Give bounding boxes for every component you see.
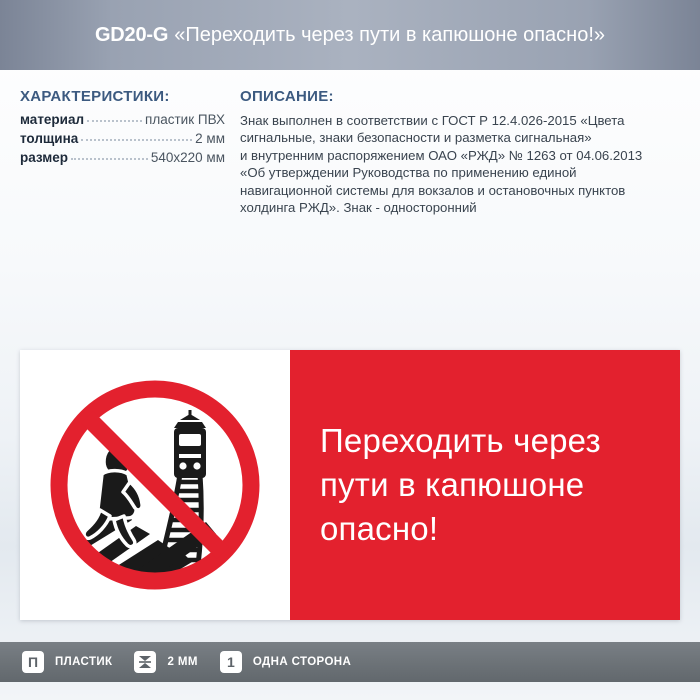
sign-preview: Переходить через пути в капюшоне опасно! [20,350,680,620]
description-line: и внутренним распоряжением ОАО «РЖД» № 1… [240,147,685,164]
thickness-icon-glyph [137,654,153,670]
sign-text-panel: Переходить через пути в капюшоне опасно! [290,350,680,620]
spec-row-material: материал пластик ПВХ [20,112,225,127]
footer-item-material: П ПЛАСТИК [22,651,112,673]
spec-value: 540х220 мм [151,150,225,165]
thickness-icon [134,651,156,673]
specs-heading: ХАРАКТЕРИСТИКИ: [20,88,225,105]
spec-dot-leader [87,120,142,122]
description-line: холдинга РЖД». Знак - односторонний [240,199,685,216]
description-block: ОПИСАНИЕ: Знак выполнен в соответствии с… [240,88,685,216]
description-line: Знак выполнен в соответствии с ГОСТ Р 12… [240,112,685,129]
description-body: Знак выполнен в соответствии с ГОСТ Р 12… [240,112,685,216]
spec-dot-leader [71,158,148,160]
sign-pictogram-panel [20,350,290,620]
sign-text-line: Переходить через [320,419,680,463]
header-inner: GD20-G «Переходить через пути в капюшоне… [95,24,605,47]
one-side-icon: 1 [220,651,242,673]
description-heading: ОПИСАНИЕ: [240,88,685,105]
spec-value: 2 мм [195,131,225,146]
sign-text-line: пути в капюшоне [320,463,680,507]
product-card: GD20-G «Переходить через пути в капюшоне… [0,0,700,700]
footer-label: ПЛАСТИК [55,656,112,668]
footer-item-sides: 1 ОДНА СТОРОНА [220,651,351,673]
footer-label: ОДНА СТОРОНА [253,656,351,668]
sign-text-line: опасно! [320,507,680,551]
specs-block: ХАРАКТЕРИСТИКИ: материал пластик ПВХ тол… [20,88,225,169]
spec-label: размер [20,150,68,165]
description-line: «Об утверждении Руководства по применени… [240,164,685,181]
spec-row-thickness: толщина 2 мм [20,131,225,146]
plastic-icon-glyph: П [28,655,38,669]
spec-dot-leader [81,139,192,141]
one-side-icon-glyph: 1 [227,655,235,669]
spec-label: материал [20,112,84,127]
footer-bar: П ПЛАСТИК 2 ММ 1 ОДНА СТОРОНА [0,642,700,682]
no-crossing-tracks-in-hood-pictogram [40,370,270,600]
info-section: ХАРАКТЕРИСТИКИ: материал пластик ПВХ тол… [0,70,700,330]
page-title: «Переходить через пути в капюшоне опасно… [174,24,605,47]
product-code: GD20-G [95,24,168,47]
description-line: сигнальные, знаки безопасности и разметк… [240,129,685,146]
description-line: навигационной системы для вокзалов и ост… [240,182,685,199]
footer-label: 2 ММ [167,656,197,668]
spec-row-size: размер 540х220 мм [20,150,225,165]
spec-value: пластик ПВХ [145,112,225,127]
footer-item-thickness: 2 ММ [134,651,197,673]
spec-label: толщина [20,131,78,146]
page-header: GD20-G «Переходить через пути в капюшоне… [0,0,700,70]
plastic-icon: П [22,651,44,673]
